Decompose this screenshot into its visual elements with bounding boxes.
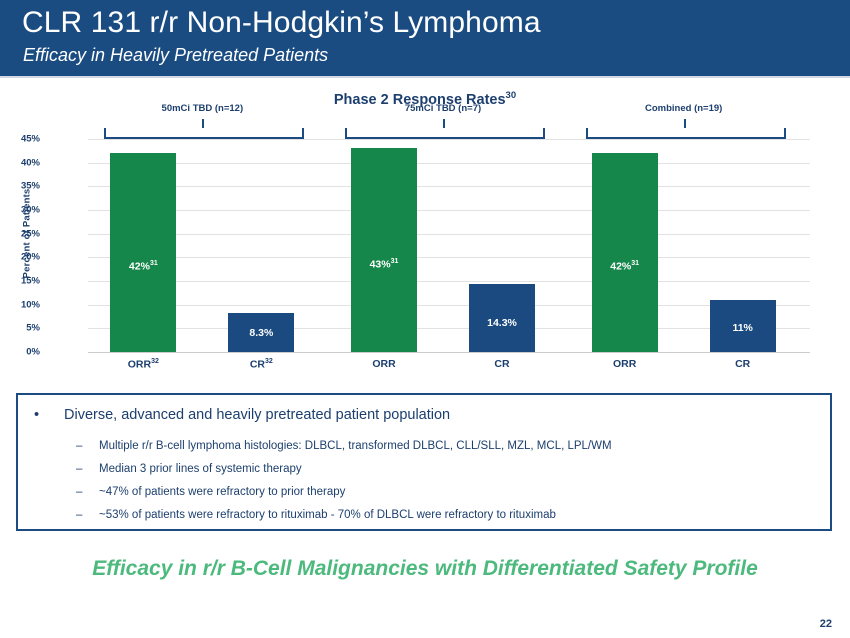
x-axis-label-text: CR <box>735 358 750 370</box>
bar-value-label: 8.3% <box>228 327 294 339</box>
x-axis-label-superscript: 32 <box>265 358 273 365</box>
bar-value-label: 11% <box>710 322 776 334</box>
plot-area: 45%40%35%30%25%20%15%10%5%0%42%31ORR328.… <box>88 139 810 352</box>
x-axis-label-text: CR <box>250 359 265 371</box>
bullet-dash-icon: – <box>76 440 99 452</box>
group-bracket-tick <box>684 119 686 128</box>
bullet-marker-icon: • <box>34 407 64 423</box>
x-axis-label-text: ORR <box>372 358 395 370</box>
y-axis-tick-label: 35% <box>0 181 40 192</box>
x-axis-label-cr: CR <box>710 358 776 370</box>
bullet-dash-icon: – <box>76 463 99 475</box>
x-axis-label-text: ORR <box>613 358 636 370</box>
bullet-item-sub-text: Multiple r/r B-cell lymphoma histologies… <box>99 440 612 452</box>
group-label: Combined (n=19) <box>594 103 774 114</box>
bullet-item-sub-text: Median 3 prior lines of systemic therapy <box>99 463 302 475</box>
bar-value-text: 14.3% <box>487 317 517 329</box>
gridline <box>88 186 810 187</box>
y-axis-tick-label: 40% <box>0 157 40 168</box>
x-axis-label-text: CR <box>494 358 509 370</box>
bar-50mci-orr: 42%31 <box>110 153 176 352</box>
bar-value-text: 42% <box>129 260 150 272</box>
x-axis-label-cr: CR <box>469 358 535 370</box>
bar-75mci-cr: 14.3% <box>469 284 535 352</box>
bullet-item-primary-text: Diverse, advanced and heavily pretreated… <box>64 407 450 423</box>
chart-title-superscript: 30 <box>506 90 517 101</box>
group-bracket <box>104 128 304 139</box>
bullet-item-sub-text: ~53% of patients were refractory to ritu… <box>99 509 556 521</box>
footer-tagline: Efficacy in r/r B-Cell Malignancies with… <box>0 557 850 581</box>
group-bracket-tick <box>202 119 204 128</box>
bullet-item-sub-text: ~47% of patients were refractory to prio… <box>99 486 345 498</box>
group-bracket-tick <box>443 119 445 128</box>
bar-value-superscript: 31 <box>631 260 639 267</box>
bar-combined-orr: 42%31 <box>592 153 658 352</box>
bullet-item-sub: –~47% of patients were refractory to pri… <box>76 486 345 498</box>
bar-value-text: 42% <box>610 260 631 272</box>
y-axis-tick-label: 10% <box>0 299 40 310</box>
slide-header-band: CLR 131 r/r Non-Hodgkin’s Lymphoma Effic… <box>0 0 850 78</box>
gridline <box>88 139 810 140</box>
bar-value-text: 11% <box>732 322 752 334</box>
x-axis-label-orr: ORR32 <box>110 358 176 371</box>
y-axis-tick-label: 15% <box>0 276 40 287</box>
bar-value-label: 42%31 <box>592 260 658 273</box>
bar-value-label: 14.3% <box>469 317 535 329</box>
gridline <box>88 305 810 306</box>
bullet-dash-icon: – <box>76 509 99 521</box>
gridline <box>88 352 810 353</box>
gridline <box>88 328 810 329</box>
group-bracket <box>345 128 545 139</box>
x-axis-label-orr: ORR <box>351 358 417 370</box>
bar-50mci-cr: 8.3% <box>228 313 294 352</box>
bar-75mci-orr: 43%31 <box>351 148 417 352</box>
y-axis-tick-label: 45% <box>0 134 40 145</box>
bullet-item-sub: –Median 3 prior lines of systemic therap… <box>76 463 302 475</box>
y-axis-tick-label: 5% <box>0 323 40 334</box>
group-bracket <box>586 128 786 139</box>
bar-value-superscript: 31 <box>391 258 399 265</box>
bullet-item-sub: –~53% of patients were refractory to rit… <box>76 509 556 521</box>
gridline <box>88 281 810 282</box>
gridline <box>88 234 810 235</box>
bar-value-superscript: 31 <box>150 260 158 267</box>
y-axis-tick-label: 0% <box>0 347 40 358</box>
y-axis-tick-label: 20% <box>0 252 40 263</box>
summary-callout-box: •Diverse, advanced and heavily pretreate… <box>16 393 832 531</box>
gridline <box>88 163 810 164</box>
bar-value-label: 42%31 <box>110 260 176 273</box>
response-rates-chart: Phase 2 Response Rates30 Percent of Pati… <box>0 78 850 383</box>
group-label: 75mCi TBD (n=7) <box>353 103 533 114</box>
x-axis-label-orr: ORR <box>592 358 658 370</box>
group-label: 50mCi TBD (n=12) <box>112 103 292 114</box>
bar-combined-cr: 11% <box>710 300 776 352</box>
page-subtitle: Efficacy in Heavily Pretreated Patients <box>23 45 328 66</box>
page-title: CLR 131 r/r Non-Hodgkin’s Lymphoma <box>22 6 541 40</box>
page-number: 22 <box>820 618 832 630</box>
bullet-item-sub: –Multiple r/r B-cell lymphoma histologie… <box>76 440 612 452</box>
bullet-dash-icon: – <box>76 486 99 498</box>
gridline <box>88 210 810 211</box>
x-axis-label-cr: CR32 <box>228 358 294 371</box>
x-axis-label-text: ORR <box>128 359 151 371</box>
y-axis-tick-label: 25% <box>0 228 40 239</box>
bar-value-label: 43%31 <box>351 258 417 271</box>
bar-value-text: 43% <box>370 259 391 271</box>
bar-value-text: 8.3% <box>249 327 273 339</box>
y-axis-tick-label: 30% <box>0 205 40 216</box>
bullet-item-primary: •Diverse, advanced and heavily pretreate… <box>34 407 450 423</box>
x-axis-label-superscript: 32 <box>151 358 159 365</box>
gridline <box>88 257 810 258</box>
